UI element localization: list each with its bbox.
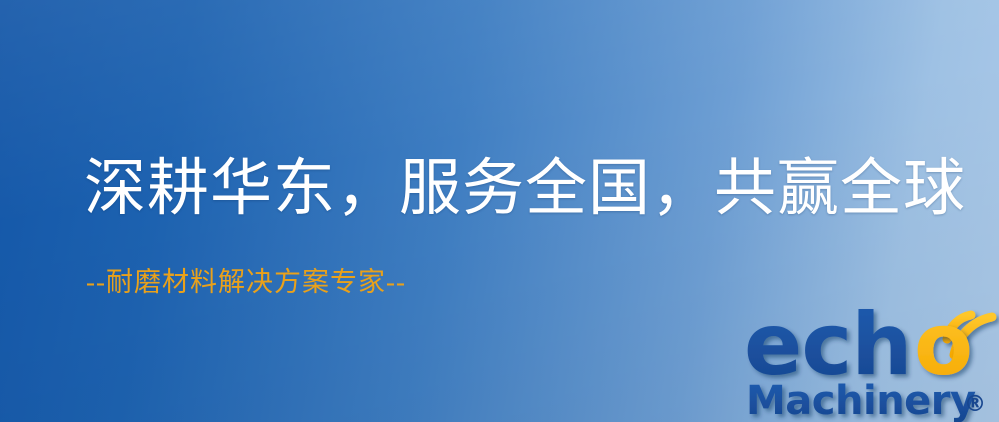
- page-subtitle: --耐磨材料解决方案专家--: [86, 265, 406, 299]
- logo-tagline: Machinery: [746, 378, 976, 422]
- registered-trademark-mark: ®: [964, 392, 986, 417]
- page-title: 深耕华东，服务全国，共赢全球: [84, 152, 966, 226]
- hero-banner: 深耕华东，服务全国，共赢全球 --耐磨材料解决方案专家--: [0, 0, 999, 422]
- company-logo[interactable]: ech o Machinery ®: [742, 292, 999, 422]
